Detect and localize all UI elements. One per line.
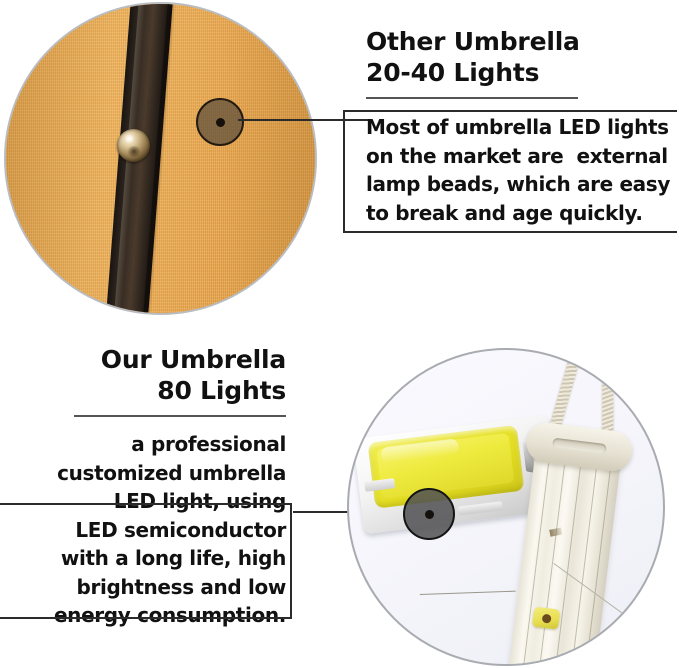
embedded-led-on-rib: [532, 607, 560, 630]
rib-callout-thread: [420, 591, 516, 595]
tube-seam-5: [583, 443, 614, 666]
callout-other-umbrella: Other Umbrella 20-40 Lights Most of umbr…: [366, 26, 672, 227]
callout-bracket-bottom: [0, 503, 292, 619]
other-body-line-4: to break and age quickly.: [366, 199, 672, 228]
other-body-line-1: Most of umbrella LED lights: [366, 113, 672, 142]
infographic-canvas: Other Umbrella 20-40 Lights Most of umbr…: [0, 0, 679, 668]
marker-center-dot: [425, 510, 434, 519]
smd-led-chip-marker-icon: [403, 488, 455, 540]
photo-other-umbrella-closeup: [4, 2, 317, 315]
our-heading-underline: [74, 415, 286, 417]
other-body-line-2: on the market are external: [366, 142, 672, 171]
tube-seam-3: [553, 439, 584, 666]
tube-seam-1: [521, 435, 552, 666]
rivet-specular-highlight: [124, 134, 135, 143]
fabric-shadow-left: [6, 4, 111, 313]
photo-our-umbrella-led-closeup: [347, 348, 665, 666]
other-umbrella-heading: Other Umbrella 20-40 Lights: [366, 26, 672, 88]
embedded-led-emitter-dot: [542, 614, 552, 624]
our-body-line-2: customized umbrella: [20, 459, 286, 488]
our-heading-line-1: Our Umbrella: [20, 344, 286, 375]
other-heading-underline: [366, 97, 578, 99]
fabric-shadow-right: [222, 4, 315, 313]
other-heading-line-1: Other Umbrella: [366, 26, 672, 57]
our-heading-line-2: 80 Lights: [20, 375, 286, 406]
tube-seam-2: [537, 437, 568, 666]
other-umbrella-description: Most of umbrella LED lights on the marke…: [366, 113, 672, 227]
our-umbrella-heading: Our Umbrella 80 Lights: [20, 344, 286, 406]
other-heading-line-2: 20-40 Lights: [366, 57, 672, 88]
our-body-line-1: a professional: [20, 430, 286, 459]
led-solder-pad-bottom: [458, 501, 503, 515]
tube-seam-4: [569, 441, 600, 666]
rib-clip-slot: [552, 438, 607, 455]
rivet-shadow: [127, 146, 141, 157]
other-body-line-3: lamp beads, which are easy: [366, 170, 672, 199]
external-lamp-bead-marker-icon: [196, 98, 244, 146]
metal-rivet-bead: [117, 129, 150, 162]
marker-center-dot: [216, 118, 225, 127]
